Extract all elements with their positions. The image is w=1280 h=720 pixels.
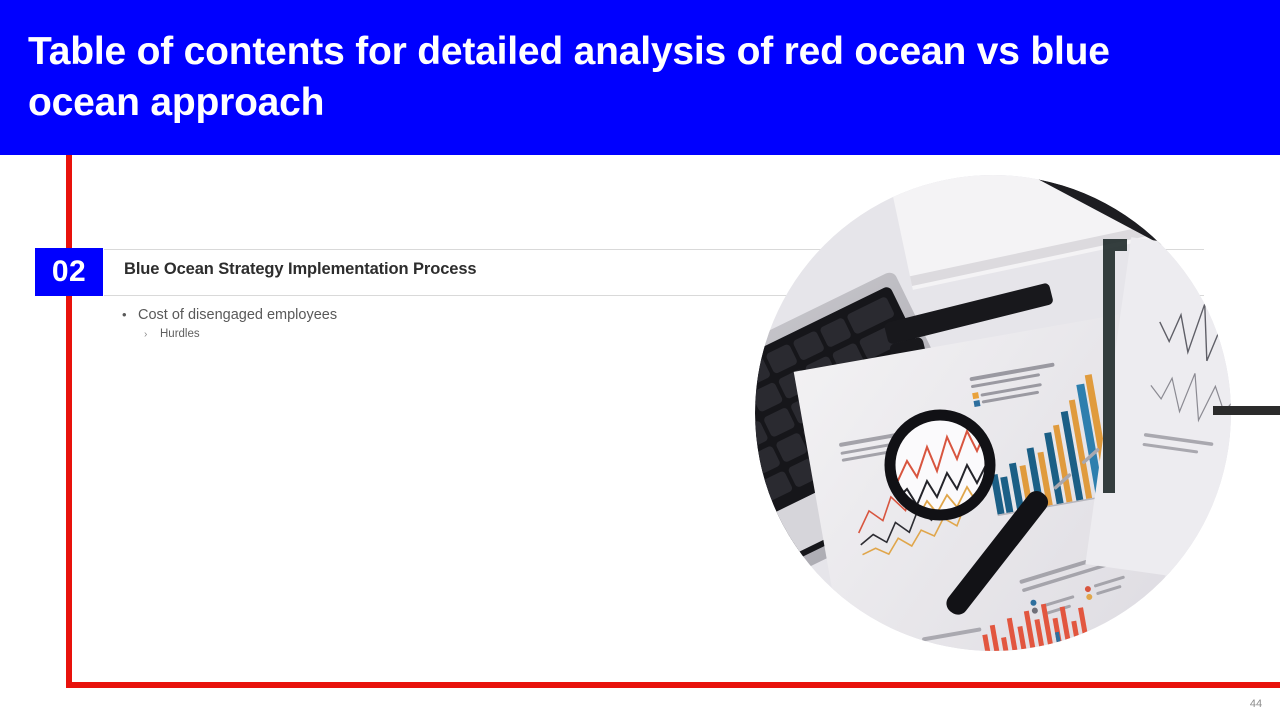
list-item: • Cost of disengaged employees: [122, 306, 682, 324]
bullet-marker-icon: •: [122, 306, 138, 324]
section-heading: Blue Ocean Strategy Implementation Proce…: [124, 260, 477, 279]
page-number: 44: [1240, 698, 1272, 710]
photo-illustration: [755, 175, 1231, 651]
section-bullet-list: • Cost of disengaged employees › Hurdles: [122, 306, 682, 343]
list-item-sub-label: Hurdles: [160, 326, 200, 342]
list-item-label: Cost of disengaged employees: [138, 306, 337, 324]
accent-dash: [1213, 406, 1280, 415]
chevron-right-icon: ›: [144, 327, 160, 343]
accent-vertical-rule: [66, 155, 72, 688]
section-number-badge: 02: [35, 248, 103, 296]
decorative-photo: [755, 175, 1231, 651]
accent-horizontal-rule: [66, 682, 1280, 688]
page-title: Table of contents for detailed analysis …: [28, 26, 1208, 128]
list-item-sub: › Hurdles: [144, 326, 682, 343]
